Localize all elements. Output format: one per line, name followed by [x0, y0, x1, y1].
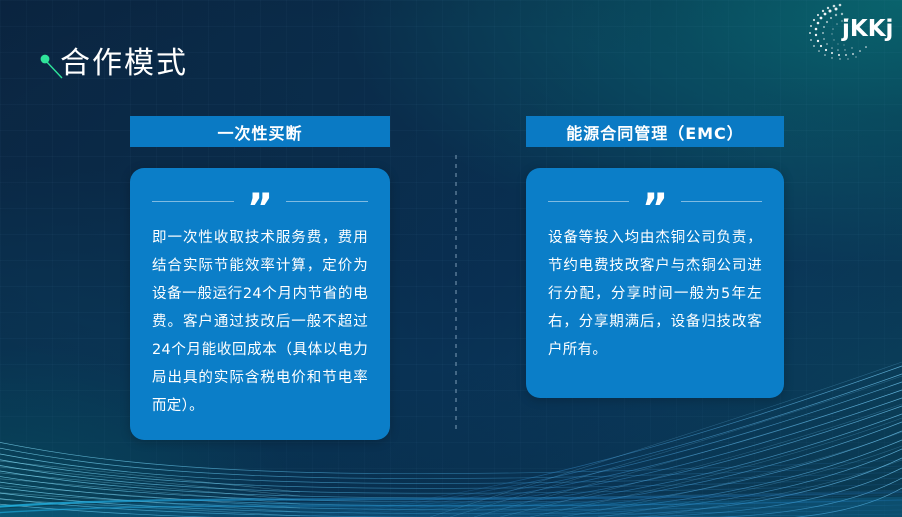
quote-rule-right	[681, 201, 762, 202]
page-title: 合作模式	[60, 38, 188, 82]
card-body-left: ” 即一次性收取技术服务费，费用结合实际节能效率计算，定价为设备一般运行24个月…	[130, 168, 390, 440]
quote-rule-left	[548, 201, 629, 202]
plan-card-one-time-purchase: 一次性买断 ” 即一次性收取技术服务费，费用结合实际节能效率计算，定价为设备一般…	[130, 116, 390, 440]
slide-canvas: jKKj 合作模式 一次性买断 ”	[0, 0, 902, 517]
logo-wordmark: jKKj	[842, 16, 893, 42]
card-body-right: ” 设备等投入均由杰铜公司负责，节约电费技改客户与杰铜公司进行分配，分享时间一般…	[526, 168, 784, 398]
card-header-right: 能源合同管理（EMC）	[526, 116, 784, 147]
quote-rule-right	[286, 201, 368, 202]
card-text-right: 设备等投入均由杰铜公司负责，节约电费技改客户与杰铜公司进行分配，分享时间一般为5…	[548, 224, 762, 364]
quote-mark-icon: ”	[234, 189, 286, 229]
quote-ornament-right: ”	[548, 184, 762, 218]
page-title-block: 合作模式	[0, 38, 340, 90]
quote-ornament-left: ”	[152, 184, 368, 218]
brand-logo: jKKj	[790, 0, 902, 62]
card-header-left: 一次性买断	[130, 116, 390, 147]
plan-card-emc: 能源合同管理（EMC） ” 设备等投入均由杰铜公司负责，节约电费技改客户与杰铜公…	[526, 116, 784, 398]
column-divider	[455, 155, 457, 430]
title-accent-dot	[41, 55, 50, 64]
card-text-left: 即一次性收取技术服务费，费用结合实际节能效率计算，定价为设备一般运行24个月内节…	[152, 224, 368, 420]
quote-mark-icon: ”	[629, 189, 681, 229]
quote-rule-left	[152, 201, 234, 202]
